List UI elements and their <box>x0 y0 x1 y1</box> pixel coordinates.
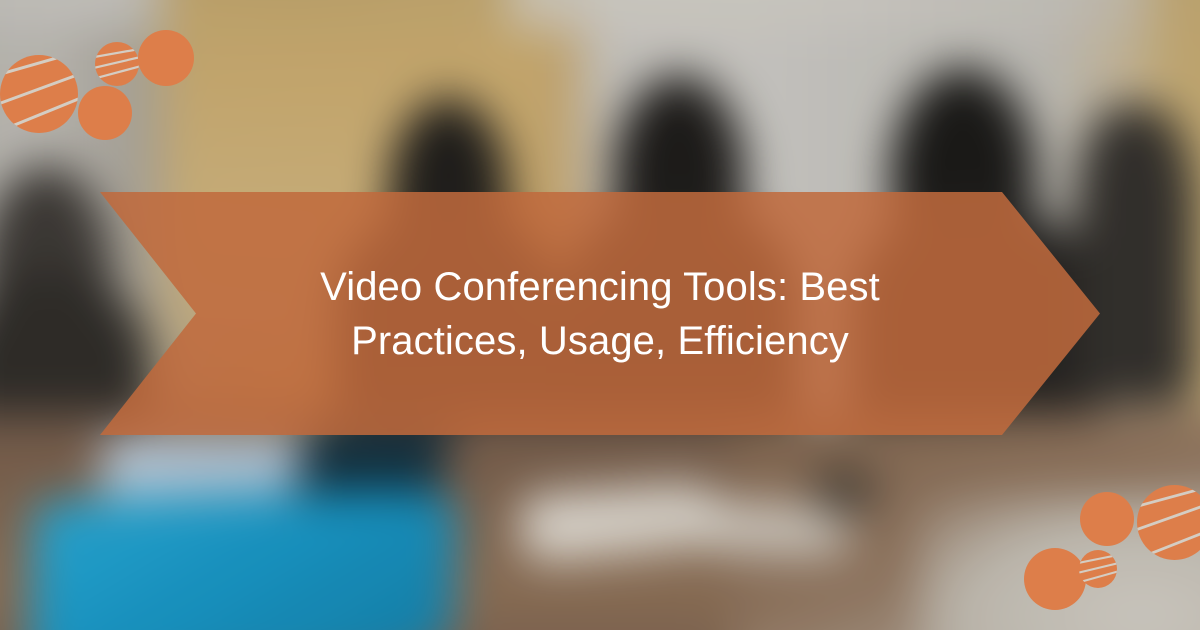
share-card: Video Conferencing Tools: Best Practices… <box>0 0 1200 630</box>
decor-dot-medium-plain-icon <box>78 86 132 140</box>
decor-dot-small-striped-icon <box>1079 550 1117 588</box>
decor-dot-small-striped-icon <box>95 42 139 86</box>
decor-dot-large-striped-icon <box>1137 485 1200 560</box>
decor-dot-large-striped-icon <box>0 55 78 133</box>
decor-dot-medium-plain-icon <box>1024 548 1086 610</box>
decor-dot-medium-plain-2-icon <box>138 30 194 86</box>
decor-cluster-top-left <box>0 0 210 160</box>
decor-dot-medium-plain-2-icon <box>1080 492 1134 546</box>
title-banner-shape <box>100 192 1100 435</box>
decor-cluster-bottom-right <box>1000 470 1200 630</box>
